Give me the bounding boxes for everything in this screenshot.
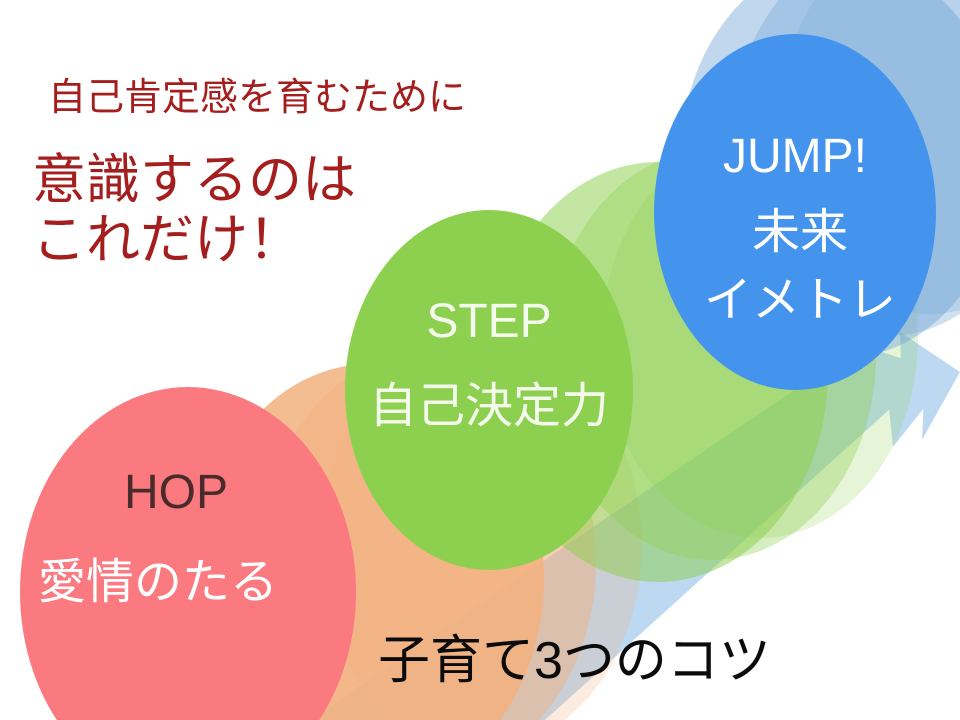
step-circle-step[interactable]: STEP 自己決定力 (345, 210, 633, 570)
footer-caption: 子育て3つのコツ (378, 632, 771, 690)
step-title: STEP (426, 295, 551, 348)
headline-block: 自己肯定感を育むために 意識するのは これだけ！ (32, 77, 466, 270)
step-circle-jump[interactable]: JUMP! 未来 イメトレ (654, 34, 936, 390)
headline-line-3: これだけ！ (32, 210, 302, 270)
headline-line-2: 意識するのは (32, 150, 356, 210)
jump-subtitle-line2: イメトレ (704, 274, 896, 327)
step-subtitle: 自己決定力 (369, 380, 609, 433)
hop-subtitle: 愛情のたる (38, 556, 278, 609)
slide-graphics: HOP 愛情のたる STEP 自己決定力 JUMP! 未来 イメトレ 自己肯定感… (0, 0, 960, 720)
jump-subtitle-line1: 未来 (752, 206, 848, 259)
headline-line-1: 自己肯定感を育むために (48, 77, 466, 119)
slide-canvas: HOP 愛情のたる STEP 自己決定力 JUMP! 未来 イメトレ 自己肯定感… (0, 0, 960, 720)
jump-title: JUMP! (723, 130, 867, 183)
hop-title: HOP (124, 466, 228, 519)
